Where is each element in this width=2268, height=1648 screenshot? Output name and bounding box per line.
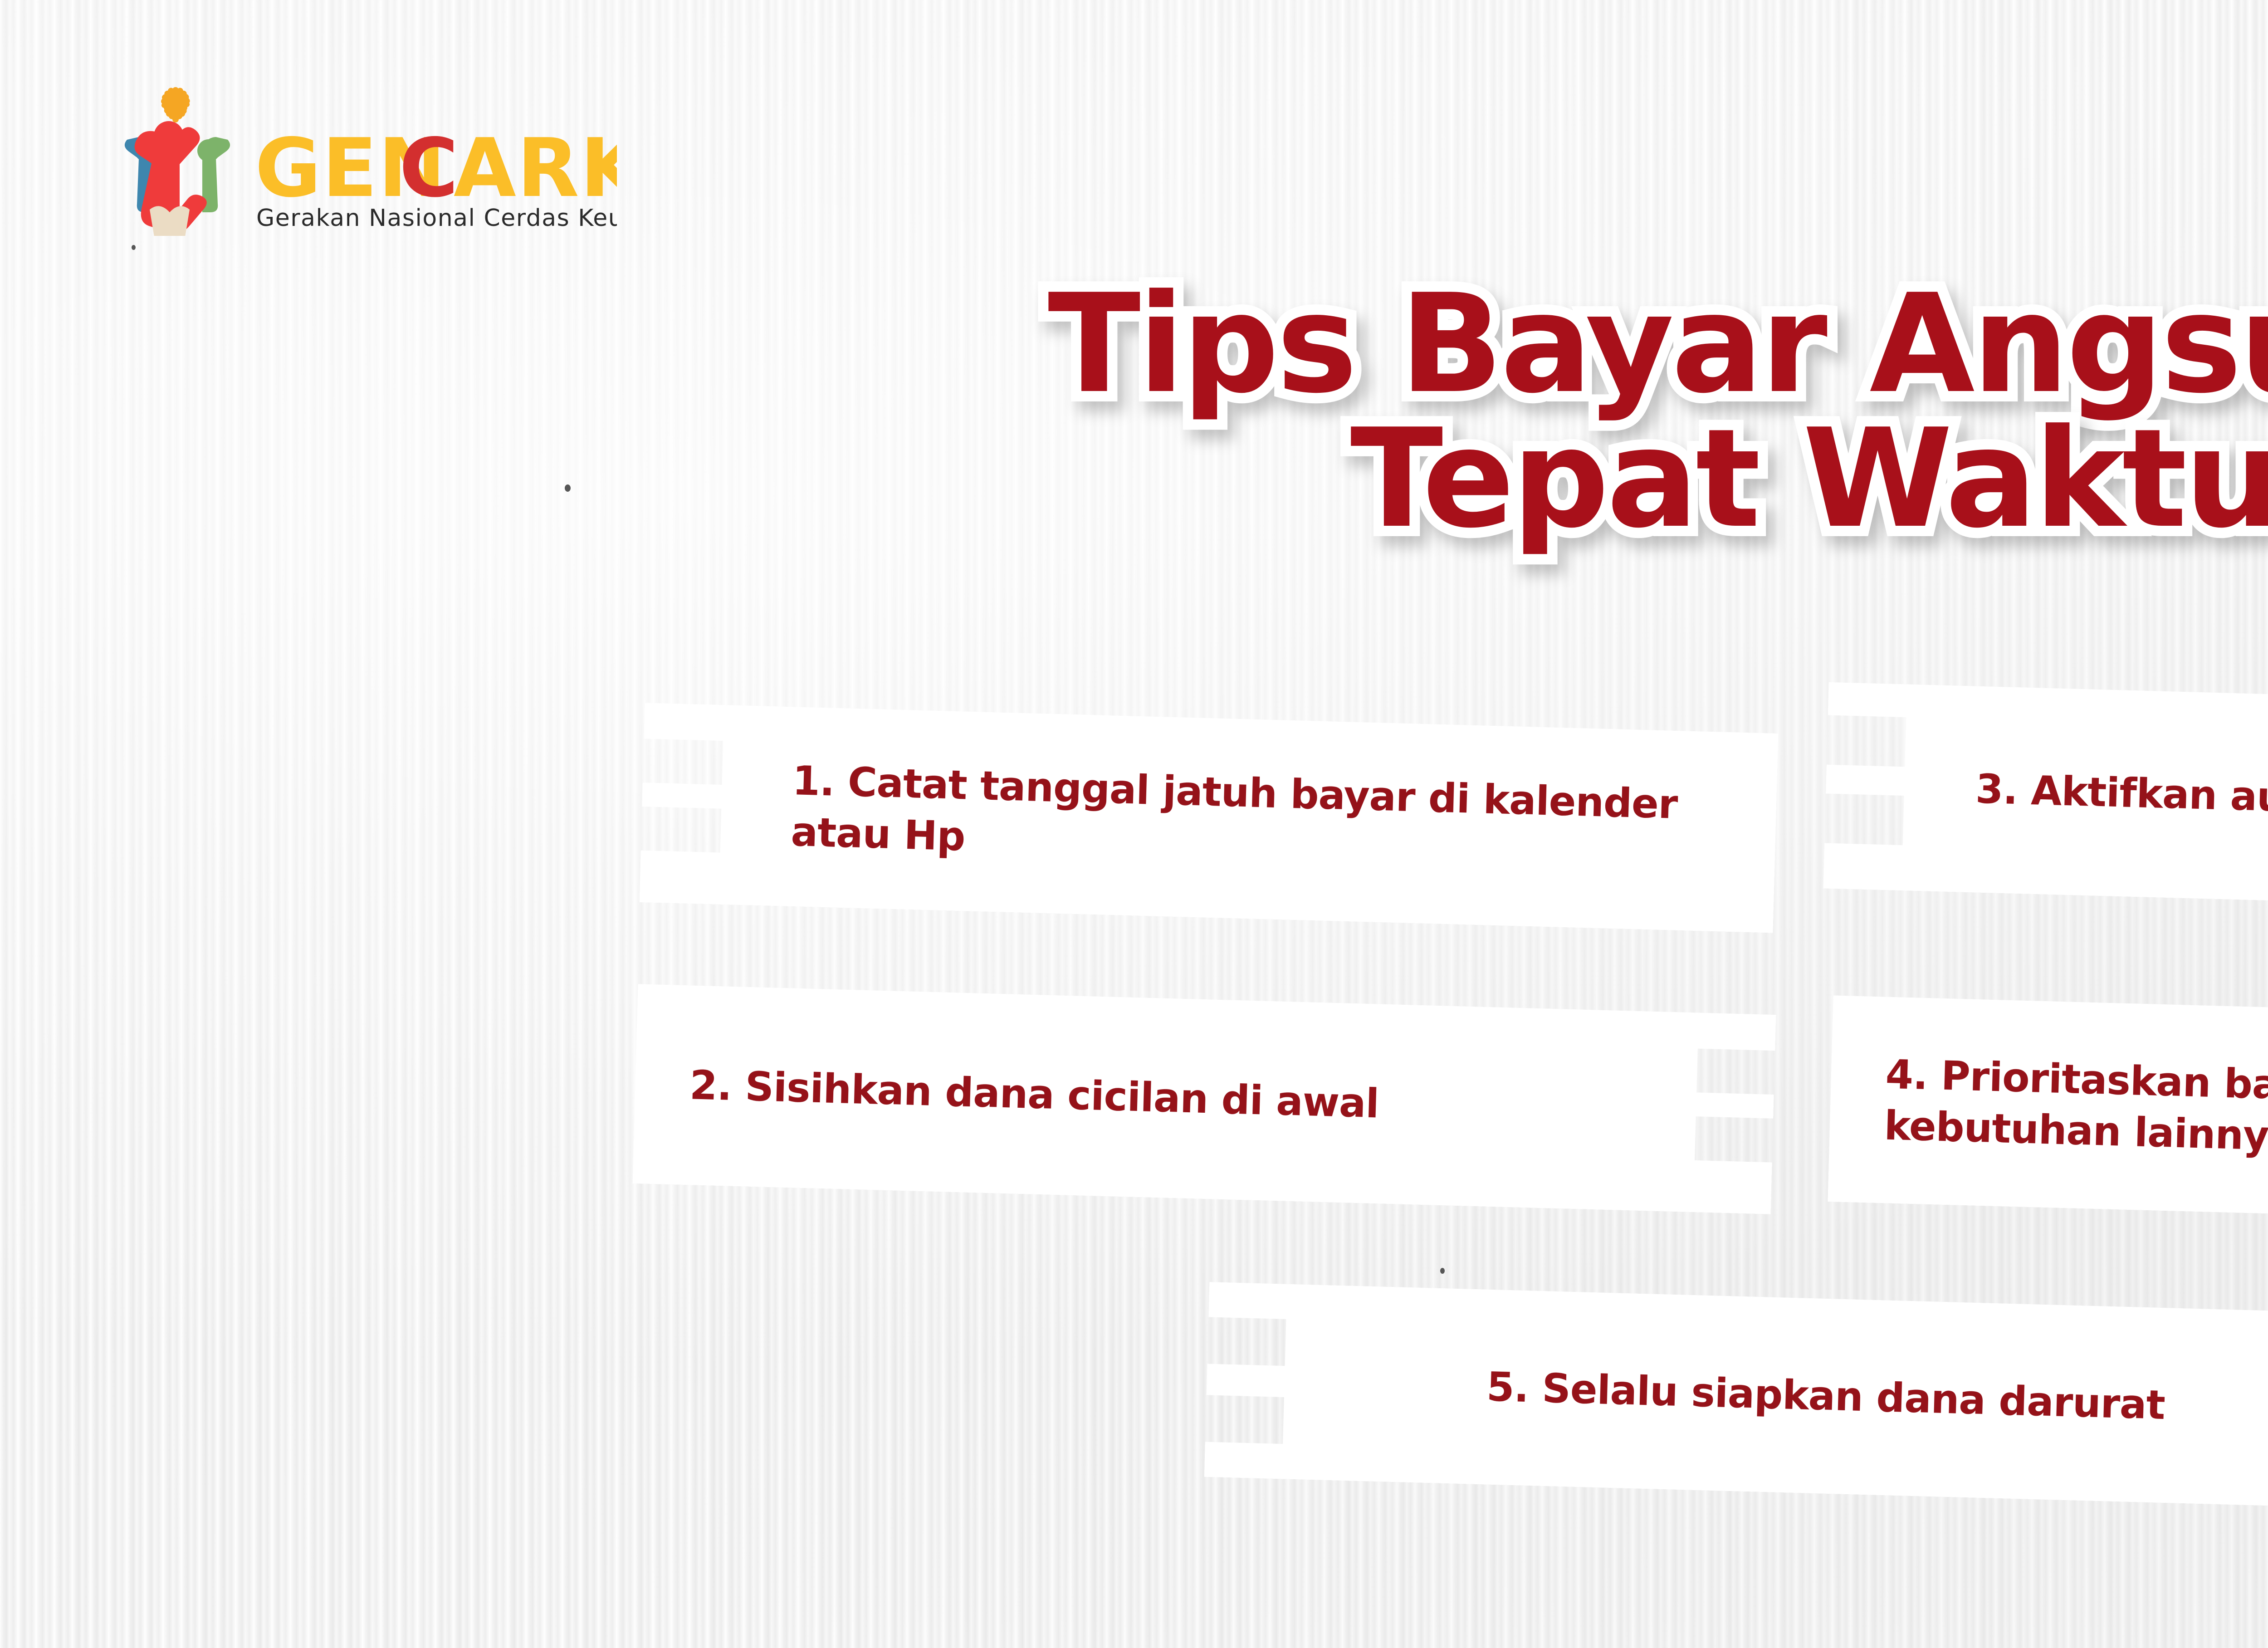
sunburst-rays [160, 87, 191, 122]
tip-card-4-text: 4. Prioritaskan bayar Angsuran sebelum k… [1829, 1047, 2268, 1180]
tip-card-2-text: 2. Sisihkan dana cicilan di awal [635, 1058, 1774, 1140]
tip-card-1[interactable]: 1. Catat tanggal jatuh bayar di kalender… [640, 703, 1779, 933]
gencarkan-logo: GEN C ARKAN Gerakan Nasional Cerdas Keua… [82, 82, 617, 236]
tip-card-5-text: 5. Selalu siapkan dana darurat [1206, 1354, 2268, 1436]
gencarkan-wordmark-c: C [399, 121, 459, 215]
page-title: Tips Bayar Angsuran Tepat Waktu [0, 277, 2268, 546]
tip-card-1-text: 1. Catat tanggal jatuh bayar di kalender… [640, 752, 1777, 885]
tip-card-5[interactable]: 5. Selalu siapkan dana darurat [1204, 1282, 2268, 1508]
tip-card-4[interactable]: 4. Prioritaskan bayar Angsuran sebelum k… [1828, 995, 2268, 1232]
page-title-line-2: Tepat Waktu [0, 411, 2268, 546]
gencarkan-wordmark-arkan: ARKAN [454, 121, 617, 215]
decorative-speck [132, 245, 136, 250]
gencarkan-tagline: Gerakan Nasional Cerdas Keuangan [256, 205, 617, 232]
tip-card-2[interactable]: 2. Sisihkan dana cicilan di awal [633, 984, 1776, 1214]
page-title-line-1: Tips Bayar Angsuran [0, 277, 2268, 411]
gencarkan-logo-svg: GEN C ARKAN Gerakan Nasional Cerdas Keua… [82, 82, 617, 236]
decorative-speck [1440, 1268, 1445, 1274]
